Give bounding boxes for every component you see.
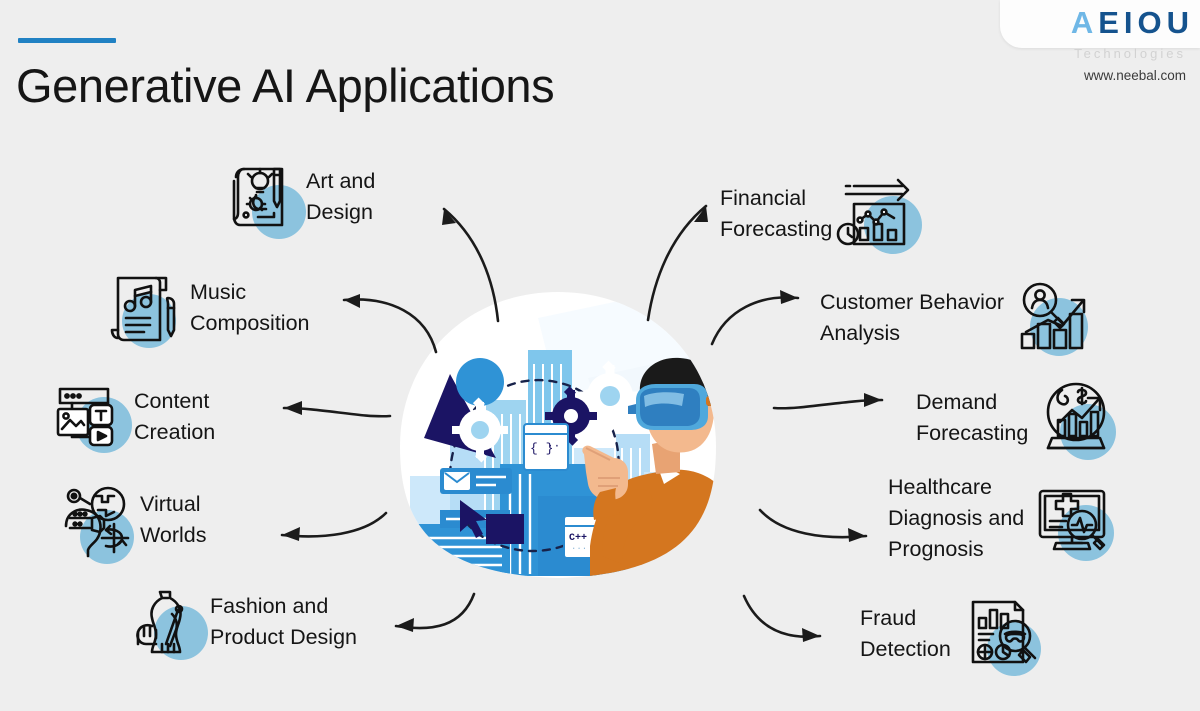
logo-letter-a: A xyxy=(1071,5,1098,40)
arrow-to-fraud-detection xyxy=(740,592,832,644)
title-accent-bar xyxy=(18,38,116,43)
brand-tagline: Technologies xyxy=(1074,46,1186,61)
node-content-creation[interactable]: Content Creation xyxy=(50,375,215,459)
node-healthcare-diagnosis[interactable]: Healthcare Diagnosis and Prognosis xyxy=(888,472,1116,565)
fraud-detection-icon xyxy=(959,592,1043,676)
arrow-to-healthcare-diagnosis xyxy=(758,502,880,550)
arrow-to-content-creation xyxy=(270,398,392,422)
node-customer-behavior-analysis[interactable]: Customer Behavior Analysis xyxy=(820,276,1096,360)
brand-logo-wordmark: AEIOU xyxy=(1071,6,1194,40)
node-label: Fraud Detection xyxy=(860,603,951,665)
svg-text:···: ··· xyxy=(571,544,587,554)
content-creation-icon xyxy=(50,375,134,459)
brand-url: www.neebal.com xyxy=(1084,68,1186,83)
node-label: Virtual Worlds xyxy=(140,489,207,551)
node-demand-forecasting[interactable]: Demand Forecasting xyxy=(916,376,1120,460)
node-label: Fashion and Product Design xyxy=(210,591,357,653)
fashion-design-icon xyxy=(126,580,210,664)
healthcare-icon xyxy=(1032,477,1116,561)
node-art-and-design[interactable]: Art and Design xyxy=(222,155,375,239)
customer-behavior-icon xyxy=(1012,276,1096,360)
svg-text:··: ·· xyxy=(547,441,560,453)
logo-letters-eiou: EIOU xyxy=(1098,5,1194,40)
arrow-to-fashion-and-product-design xyxy=(382,588,478,636)
art-design-icon xyxy=(222,155,306,239)
node-virtual-worlds[interactable]: Virtual Worlds xyxy=(56,478,207,562)
node-label: Art and Design xyxy=(306,166,375,228)
node-music-composition[interactable]: Music Composition xyxy=(106,266,310,350)
node-label: Financial Forecasting xyxy=(720,183,832,245)
arrow-to-virtual-worlds xyxy=(268,505,388,547)
node-label: Content Creation xyxy=(134,386,215,448)
page-title: Generative AI Applications xyxy=(16,58,554,113)
music-composition-icon xyxy=(106,266,190,350)
node-fashion-and-product-design[interactable]: Fashion and Product Design xyxy=(126,580,357,664)
node-fraud-detection[interactable]: Fraud Detection xyxy=(860,592,1043,676)
node-label: Healthcare Diagnosis and Prognosis xyxy=(888,472,1024,565)
virtual-worlds-icon xyxy=(56,478,140,562)
node-label: Demand Forecasting xyxy=(916,387,1028,449)
svg-text:C++: C++ xyxy=(569,533,587,544)
node-label: Music Composition xyxy=(190,277,310,339)
node-label: Customer Behavior Analysis xyxy=(820,287,1004,349)
infographic-canvas: Generative AI Applications AEIOU Technol… xyxy=(0,0,1200,711)
arrow-to-demand-forecasting xyxy=(772,390,894,414)
node-financial-forecasting[interactable]: Financial Forecasting xyxy=(720,172,920,256)
center-illustration: { } ·· C++ ··· xyxy=(388,288,728,588)
demand-forecasting-icon xyxy=(1036,376,1120,460)
financial-forecasting-icon xyxy=(836,172,920,256)
